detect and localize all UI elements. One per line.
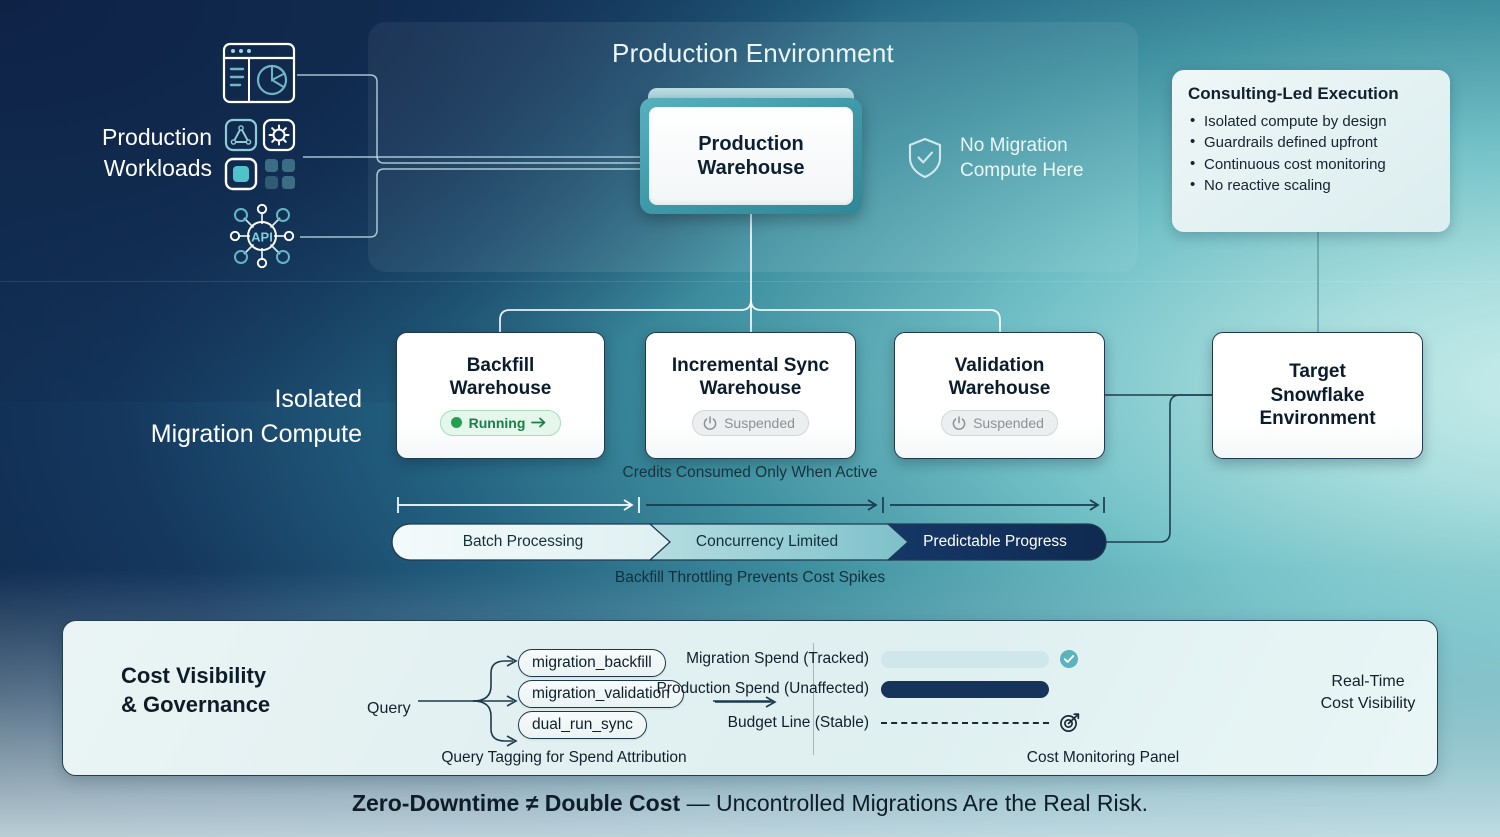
incremental-sync-warehouse-name: Incremental SyncWarehouse bbox=[672, 355, 829, 401]
target-arrow-icon bbox=[1059, 712, 1080, 733]
list-item: No reactive scaling bbox=[1188, 175, 1434, 196]
diagram-canvas: Production Environment ProductionWarehou… bbox=[0, 0, 1500, 837]
tick-arrow-3 bbox=[890, 497, 1104, 513]
cost-row-budget-line: Budget Line (Stable) bbox=[623, 712, 1080, 733]
green-dot-icon bbox=[451, 417, 462, 428]
real-time-cost-visibility-label: Real-TimeCost Visibility bbox=[1305, 671, 1431, 714]
status-badge-label: Suspended bbox=[724, 415, 795, 431]
arrow-right-icon bbox=[532, 417, 547, 428]
tick-arrow-1 bbox=[398, 497, 639, 513]
backfill-warehouse-card[interactable]: BackfillWarehouse Running bbox=[396, 332, 605, 459]
chevron-label: Predictable Progress bbox=[923, 533, 1067, 551]
power-icon bbox=[703, 416, 717, 430]
isolated-migration-compute-label: IsolatedMigration Compute bbox=[72, 382, 362, 451]
shield-note-text: No MigrationCompute Here bbox=[960, 133, 1084, 183]
target-snowflake-name: TargetSnowflakeEnvironment bbox=[1259, 360, 1375, 431]
cost-row-label: Budget Line (Stable) bbox=[623, 714, 869, 732]
tagline-rest: — Uncontrolled Migrations Are the Real R… bbox=[687, 790, 1148, 816]
incremental-sync-warehouse-card[interactable]: Incremental SyncWarehouse Suspended bbox=[645, 332, 856, 459]
production-warehouse-node[interactable]: ProductionWarehouse bbox=[640, 88, 862, 214]
status-badge[interactable]: Suspended bbox=[692, 410, 809, 436]
list-item: Isolated compute by design bbox=[1188, 111, 1434, 132]
check-circle-icon bbox=[1059, 649, 1079, 669]
phase-tick-arrows bbox=[396, 495, 1106, 515]
no-migration-compute-note: No MigrationCompute Here bbox=[906, 133, 1084, 183]
status-badge[interactable]: Suspended bbox=[941, 410, 1058, 436]
validation-warehouse-name: ValidationWarehouse bbox=[949, 355, 1051, 401]
cost-visibility-governance-panel: Cost Visibility& Governance Query migrat… bbox=[62, 620, 1438, 776]
power-icon bbox=[952, 416, 966, 430]
consulting-led-execution-panel: Consulting-Led Execution Isolated comput… bbox=[1172, 70, 1450, 232]
backfill-warehouse-name: BackfillWarehouse bbox=[450, 355, 552, 401]
list-item: Guardrails defined upfront bbox=[1188, 132, 1434, 153]
tagline-bold: Zero-Downtime ≠ Double Cost bbox=[352, 790, 687, 816]
status-badge-label: Suspended bbox=[973, 415, 1044, 431]
validation-warehouse-card[interactable]: ValidationWarehouse Suspended bbox=[894, 332, 1105, 459]
dashboard-pie-chart-icon bbox=[222, 42, 296, 104]
chevron-segment-predictable-progress: Predictable Progress bbox=[884, 524, 1106, 560]
cost-row-label: Migration Spend (Tracked) bbox=[623, 650, 869, 668]
tick-arrow-2 bbox=[646, 497, 883, 513]
throttling-chevron-bar: Batch Processing Concurrency Limited Pre… bbox=[392, 524, 1106, 560]
warehouse-stack-outer: ProductionWarehouse bbox=[640, 98, 862, 214]
production-workloads-label: ProductionWorkloads bbox=[60, 122, 212, 184]
cost-row-label: Production Spend (Unaffected) bbox=[623, 680, 869, 698]
status-badge-label: Running bbox=[469, 415, 526, 431]
chevron-label: Batch Processing bbox=[463, 533, 584, 551]
consulting-title: Consulting-Led Execution bbox=[1188, 84, 1434, 104]
api-network-icon: API bbox=[222, 196, 302, 276]
app-grid-icon bbox=[224, 118, 302, 192]
status-badge[interactable]: Running bbox=[440, 410, 562, 436]
cost-row-production-spend: Production Spend (Unaffected) bbox=[623, 680, 1049, 698]
production-environment-title: Production Environment bbox=[368, 38, 1138, 69]
api-icon-text: API bbox=[251, 230, 273, 245]
progress-track bbox=[881, 651, 1049, 668]
list-item: Continuous cost monitoring bbox=[1188, 154, 1434, 175]
query-tagging-caption: Query Tagging for Spend Attribution bbox=[299, 749, 829, 767]
cost-visibility-title: Cost Visibility& Governance bbox=[121, 661, 351, 719]
cost-monitoring-caption: Cost Monitoring Panel bbox=[823, 749, 1383, 767]
chevron-segment-batch-processing: Batch Processing bbox=[392, 524, 654, 560]
consulting-bullet-list: Isolated compute by design Guardrails de… bbox=[1188, 111, 1434, 196]
target-snowflake-environment-card[interactable]: TargetSnowflakeEnvironment bbox=[1212, 332, 1423, 459]
credits-caption: Credits Consumed Only When Active bbox=[0, 464, 1500, 482]
warehouse-stack-inner: ProductionWarehouse bbox=[649, 107, 853, 205]
shield-check-icon bbox=[906, 136, 944, 180]
chevron-label: Concurrency Limited bbox=[696, 533, 838, 551]
chevron-segment-concurrency-limited: Concurrency Limited bbox=[638, 524, 896, 560]
production-warehouse-label: ProductionWarehouse bbox=[697, 132, 804, 181]
cost-row-migration-spend: Migration Spend (Tracked) bbox=[623, 649, 1079, 669]
progress-track bbox=[881, 681, 1049, 698]
query-label: Query bbox=[367, 700, 411, 718]
tagline: Zero-Downtime ≠ Double Cost — Uncontroll… bbox=[0, 790, 1500, 817]
budget-dashed-line bbox=[881, 722, 1049, 724]
throttling-caption: Backfill Throttling Prevents Cost Spikes bbox=[0, 569, 1500, 587]
